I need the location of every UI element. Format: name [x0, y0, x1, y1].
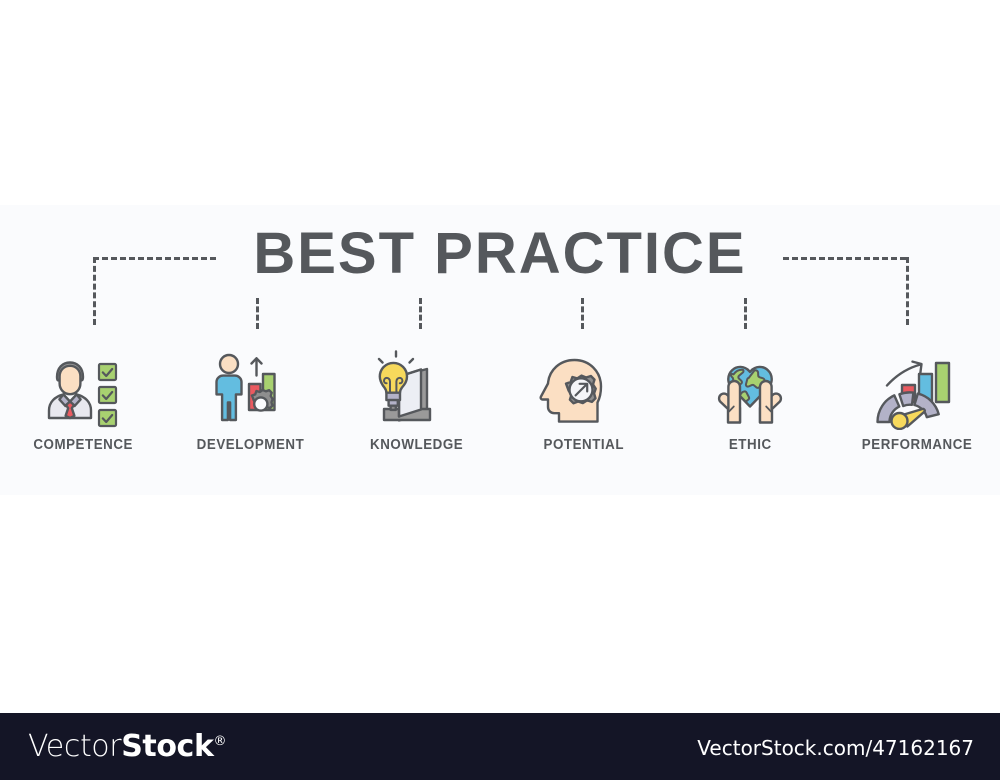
hands-holding-earth-heart-icon: [702, 350, 798, 430]
item-ethic[interactable]: ETHIC: [667, 350, 834, 475]
item-development[interactable]: DEVELOPMENT: [167, 350, 334, 475]
banner-panel: BEST PRACTICE: [0, 205, 1000, 495]
connector-line-right-vertical: [906, 257, 909, 325]
brand-name-light: Vector: [28, 729, 121, 764]
registered-trademark-icon: ®: [214, 734, 227, 749]
connector-line-left-vertical: [93, 257, 96, 325]
item-label-development: DEVELOPMENT: [196, 437, 304, 453]
connector-tick-development: [256, 298, 259, 329]
gauge-growth-chart-icon: [869, 350, 965, 430]
item-competence[interactable]: COMPETENCE: [0, 350, 167, 475]
person-growth-gear-icon: [202, 350, 298, 430]
icon-row: COMPETENCE: [0, 350, 1000, 475]
lightbulb-book-icon: [369, 350, 465, 430]
brand-name-bold: Stock: [121, 729, 213, 764]
item-potential[interactable]: POTENTIAL: [500, 350, 667, 475]
watermark-url: VectorStock.com/47162167: [697, 736, 974, 760]
item-label-ethic: ETHIC: [729, 437, 772, 453]
item-performance[interactable]: PERFORMANCE: [833, 350, 1000, 475]
vectorstock-logo: VectorStock®: [28, 729, 226, 764]
connector-tick-knowledge: [419, 298, 422, 329]
watermark-bar: VectorStock® VectorStock.com/47162167: [0, 713, 1000, 780]
item-label-performance: PERFORMANCE: [861, 437, 972, 453]
item-label-knowledge: KNOWLEDGE: [370, 437, 463, 453]
connector-tick-potential: [581, 298, 584, 329]
page-title: BEST PRACTICE: [0, 223, 1000, 285]
connector-line-left-horizontal: [93, 257, 216, 260]
head-gear-arrow-icon: [535, 350, 631, 430]
businessman-checklist-icon: [35, 350, 131, 430]
connector-line-right-horizontal: [783, 257, 906, 260]
connector-tick-ethic: [744, 298, 747, 329]
item-knowledge[interactable]: KNOWLEDGE: [333, 350, 500, 475]
item-label-potential: POTENTIAL: [543, 437, 624, 453]
item-label-competence: COMPETENCE: [34, 437, 134, 453]
